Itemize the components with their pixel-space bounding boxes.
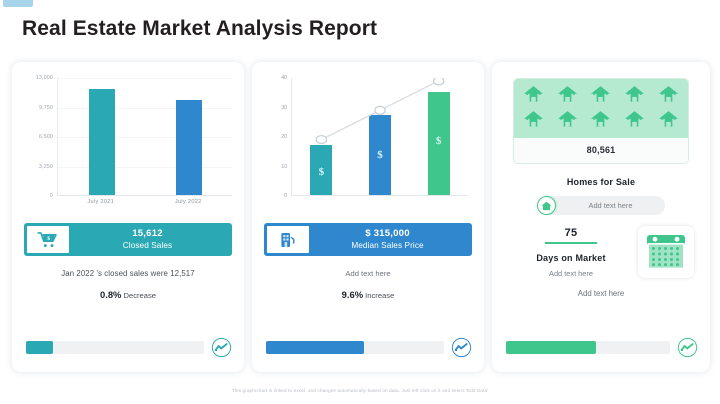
chart1-y-tick: 6,500 — [39, 134, 53, 140]
closed-sales-delta-value: 0.8% — [100, 289, 121, 300]
dollar-sign-icon: $ — [377, 149, 383, 161]
homes-add-text-pill[interactable]: Add text here — [537, 196, 665, 215]
median-price-label: Median Sales Price — [309, 240, 466, 251]
closed-sales-banner: $ 15,612 Closed Sales — [24, 223, 232, 256]
line-chart-circle-icon[interactable] — [451, 337, 472, 358]
panel2-progress-fill — [266, 341, 364, 354]
house-icon — [590, 85, 611, 108]
bar-chart-closed-sales[interactable]: 13,0009,7506,5003,2500 July 2021July 202… — [24, 78, 232, 213]
chart1-bars — [58, 78, 232, 195]
chart1-x-axis: July 2021July 2022 — [57, 199, 232, 205]
house-icon — [537, 196, 556, 215]
homes-pill-row: Add text here — [504, 196, 698, 215]
panel-median-sales-price: 403020100 $$$ — [252, 62, 484, 372]
panel1-progress-row — [26, 337, 232, 358]
house-icon — [523, 110, 544, 133]
decorative-corner-fragment — [3, 0, 33, 7]
panel-homes-for-sale: 80,561 Homes for Sale Add text here 75 — [492, 62, 710, 372]
chart1-x-tick: July 2022 — [175, 199, 202, 205]
house-icon — [523, 85, 544, 108]
closed-sales-label: Closed Sales — [69, 240, 226, 251]
days-on-market-rule — [545, 242, 597, 244]
price-building-icon — [267, 226, 309, 253]
line-chart-circle-icon[interactable] — [211, 337, 232, 358]
homes-infographic-card: 80,561 — [513, 78, 689, 164]
footer-note: This graph/chart is linked to excel, and… — [0, 388, 720, 393]
page-title: Real Estate Market Analysis Report — [22, 17, 377, 41]
median-price-banner: $ 315,000 Median Sales Price — [264, 223, 472, 256]
panel3-progress-row — [506, 337, 698, 358]
chart1-plot-area — [57, 78, 232, 196]
house-icon — [624, 110, 645, 133]
shopping-cart-icon: $ — [27, 226, 69, 253]
chart1-y-axis: 13,0009,7506,5003,2500 — [24, 78, 56, 196]
chart1-y-tick: 0 — [50, 193, 53, 199]
house-icon — [658, 85, 679, 108]
chart1-y-tick: 13,000 — [36, 75, 53, 81]
chart1-x-tick: July 2021 — [87, 199, 114, 205]
median-price-delta-value: 9.6% — [342, 289, 363, 300]
chart2-y-tick: 40 — [281, 75, 287, 81]
house-icon — [557, 85, 578, 108]
homes-for-sale-label: Homes for Sale — [504, 177, 698, 187]
svg-text:$: $ — [47, 235, 50, 242]
homes-pill-text: Add text here — [556, 201, 665, 210]
panel-closed-sales: 13,0009,7506,5003,2500 July 2021July 202… — [12, 62, 244, 372]
calendar-icon — [638, 226, 694, 278]
house-icon — [590, 110, 611, 133]
chart2-plot-area: $$$ — [291, 78, 468, 196]
days-on-market-text: 75 Days on Market Add text here — [504, 226, 638, 278]
chart1-bar — [89, 89, 115, 195]
line-chart-circle-icon[interactable] — [677, 337, 698, 358]
chart2-y-tick: 30 — [281, 105, 287, 111]
days-on-market-value: 75 — [504, 227, 638, 239]
chart2-bar: $ — [428, 92, 450, 195]
dollar-sign-icon: $ — [319, 166, 325, 178]
panel2-progress-track[interactable] — [266, 341, 444, 354]
dollar-sign-icon: $ — [436, 135, 442, 147]
panel3-progress-fill — [506, 341, 596, 354]
chart2-y-tick: 0 — [284, 193, 287, 199]
closed-sales-note: Jan 2022 's closed sales were 12,517 — [24, 269, 232, 278]
house-icon — [658, 110, 679, 133]
days-on-market-block: 75 Days on Market Add text here — [504, 226, 698, 278]
chart2-y-tick: 10 — [281, 164, 287, 170]
median-price-delta-word: Increase — [365, 291, 394, 300]
panel3-add-text[interactable]: Add text here — [504, 289, 698, 298]
closed-sales-delta-word: Decrease — [124, 291, 157, 300]
chart1-bar — [176, 100, 202, 195]
panel1-progress-fill — [26, 341, 53, 354]
days-on-market-label: Days on Market — [504, 253, 638, 263]
chart2-bars: $$$ — [292, 78, 468, 195]
homes-icon-grid — [514, 79, 688, 138]
median-price-delta: 9.6% Increase — [264, 289, 472, 300]
median-price-note[interactable]: Add text here — [264, 269, 472, 278]
days-on-market-sub[interactable]: Add text here — [504, 269, 638, 278]
chart2-y-tick: 20 — [281, 134, 287, 140]
median-price-banner-text: $ 315,000 Median Sales Price — [309, 228, 472, 251]
median-price-value: $ 315,000 — [309, 228, 466, 240]
house-icon — [557, 110, 578, 133]
chart2-bar: $ — [310, 145, 332, 195]
panel3-progress-track[interactable] — [506, 341, 670, 354]
panel1-progress-track[interactable] — [26, 341, 204, 354]
panels-container: 13,0009,7506,5003,2500 July 2021July 202… — [12, 62, 710, 372]
chart2-y-axis: 403020100 — [264, 78, 290, 196]
chart1-y-tick: 3,250 — [39, 164, 53, 170]
closed-sales-banner-text: 15,612 Closed Sales — [69, 228, 232, 251]
closed-sales-value: 15,612 — [69, 228, 226, 240]
closed-sales-delta: 0.8% Decrease — [24, 289, 232, 300]
chart1-y-tick: 9,750 — [39, 105, 53, 111]
bar-line-chart-median-price[interactable]: 403020100 $$$ — [264, 78, 472, 213]
house-icon — [624, 85, 645, 108]
panel2-progress-row — [266, 337, 472, 358]
homes-for-sale-value: 80,561 — [514, 138, 688, 163]
chart2-bar: $ — [369, 115, 391, 195]
slide-canvas: Real Estate Market Analysis Report 13,00… — [0, 0, 720, 404]
